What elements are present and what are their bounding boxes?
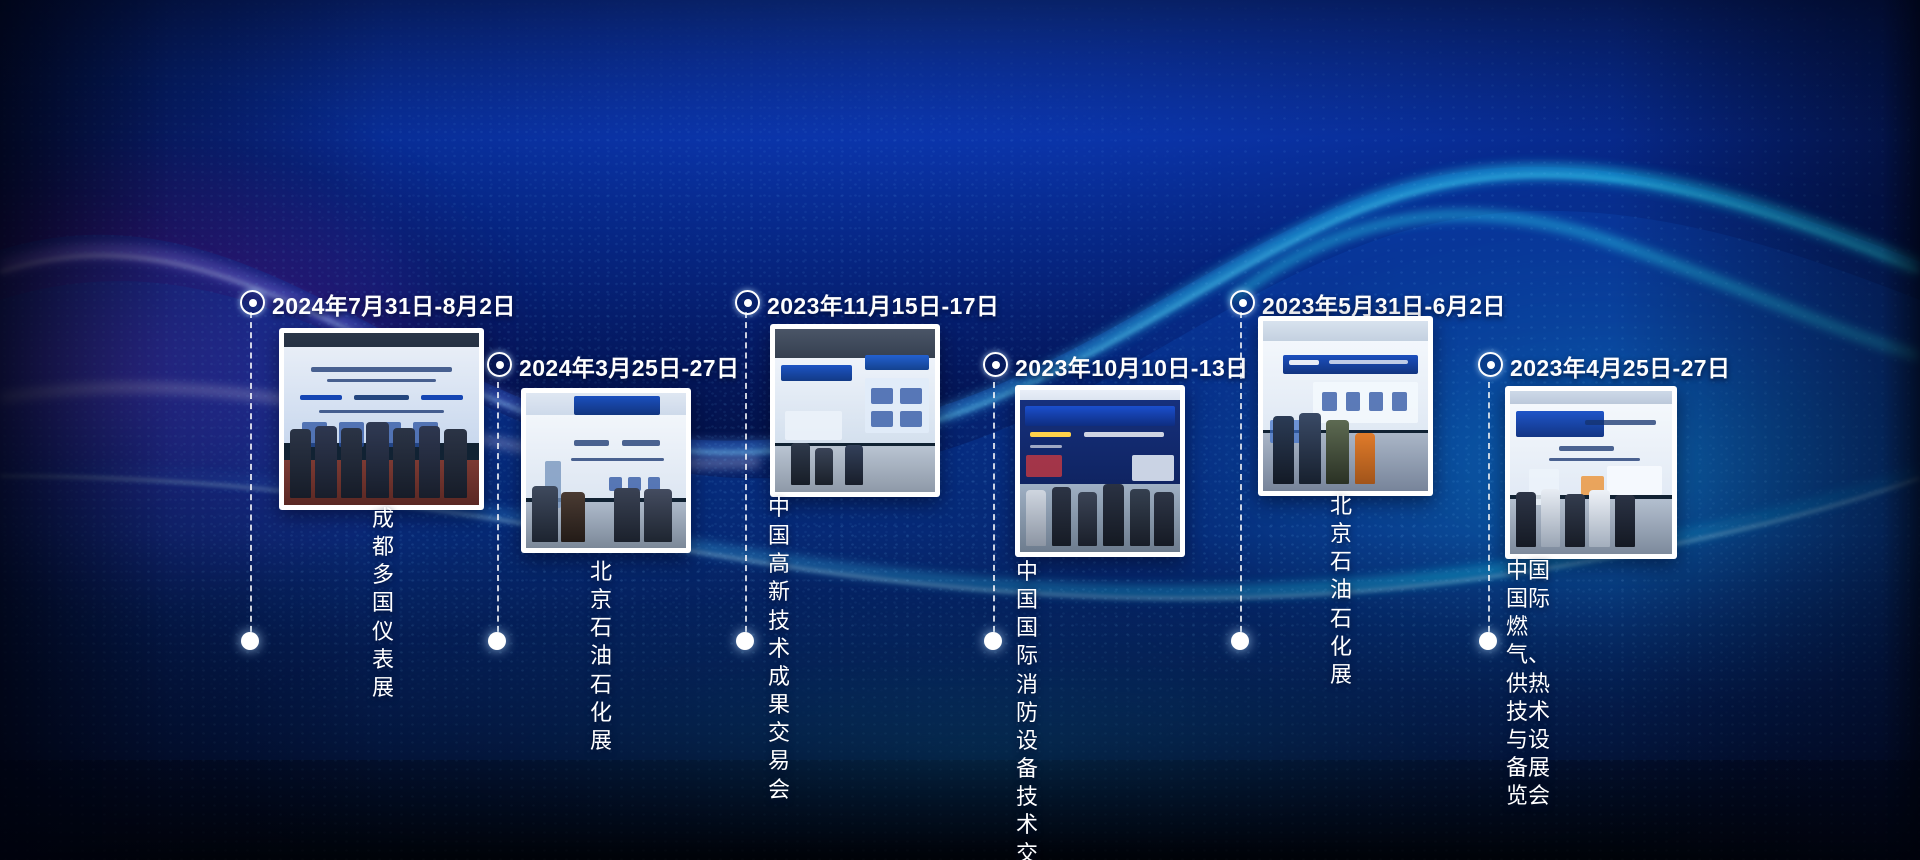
photo-china-fire-equipment-expo[interactable] <box>1015 385 1185 557</box>
timeline-date-6: 2023年4月25日-27日 <box>1510 349 1730 383</box>
ring-dot-icon-3 <box>735 290 760 315</box>
solid-dot-icon-4 <box>984 632 1002 650</box>
photo-china-gas-heating-expo[interactable] <box>1505 386 1677 559</box>
photo-beijing-petroleum-expo-2023[interactable] <box>1258 316 1433 496</box>
ring-dot-icon-2 <box>487 352 512 377</box>
timeline-date-1: 2024年7月31日-8月2日 <box>272 287 516 321</box>
solid-dot-icon-2 <box>488 632 506 650</box>
solid-dot-icon-6 <box>1479 632 1497 650</box>
ring-dot-icon-6 <box>1478 352 1503 377</box>
ring-dot-icon-5 <box>1230 290 1255 315</box>
timeline-caption-2: 北京石油石化展 <box>590 558 612 755</box>
connector-line-5 <box>1240 312 1242 642</box>
timeline-caption-3: 中国高新技术 成果交易会 <box>768 494 790 804</box>
timeline-caption-6: 中国国际燃气、供热 技术与设备展览会 <box>1506 557 1550 810</box>
timeline-date-4: 2023年10月10日-13日 <box>1015 349 1249 383</box>
solid-dot-icon-1 <box>241 632 259 650</box>
connector-line-4 <box>993 382 995 642</box>
photo-beijing-petroleum-expo-2024[interactable] <box>521 388 691 553</box>
timeline-caption-1: 成都多国仪表展 <box>372 505 394 702</box>
connector-line-3 <box>745 312 747 642</box>
ring-dot-icon-1 <box>240 290 265 315</box>
timeline-track: 2024年7月31日-8月2日 <box>0 0 1920 860</box>
photo-chengdu-instrument-expo[interactable] <box>279 328 484 510</box>
photo-china-hi-tech-fair[interactable] <box>770 324 940 497</box>
timeline-caption-4: 中国国际消防设备 技术交流展览会 <box>1016 558 1038 860</box>
connector-line-1 <box>250 312 252 642</box>
timeline-date-3: 2023年11月15日-17日 <box>767 287 999 321</box>
solid-dot-icon-5 <box>1231 632 1249 650</box>
timeline-caption-5: 北京石油石化展 <box>1330 492 1352 689</box>
ring-dot-icon-4 <box>983 352 1008 377</box>
timeline-date-2: 2024年3月25日-27日 <box>519 349 739 383</box>
connector-line-6 <box>1488 382 1490 642</box>
solid-dot-icon-3 <box>736 632 754 650</box>
connector-line-2 <box>497 382 499 642</box>
timeline-poster: 2024年7月31日-8月2日 <box>0 0 1920 860</box>
